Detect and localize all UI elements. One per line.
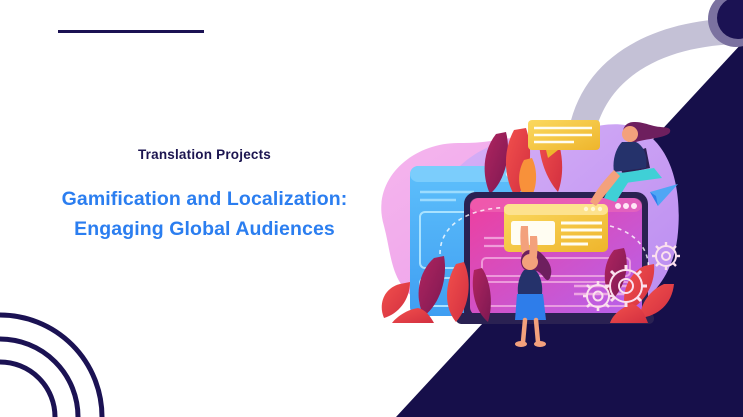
arc-outer	[0, 315, 102, 417]
main-window-dot-1	[615, 203, 621, 209]
arc-inner	[0, 362, 55, 417]
page-title: Gamification and Localization: Engaging …	[47, 184, 362, 244]
text-block: Translation Projects Gamification and Lo…	[47, 146, 362, 244]
ring-circle-inner	[717, 0, 743, 39]
person-head	[622, 126, 638, 142]
main-window-dot-3	[631, 203, 637, 209]
concentric-arcs-decoration	[0, 297, 120, 417]
reach-skirt	[515, 294, 546, 320]
horizontal-rule-decoration	[58, 30, 204, 33]
gamification-localization-illustration	[378, 108, 708, 323]
arc-middle	[0, 339, 78, 417]
card-yellow	[504, 204, 608, 252]
reach-shoes	[515, 341, 546, 347]
illustration-svg	[378, 108, 708, 323]
slide-canvas: Translation Projects Gamification and Lo…	[0, 0, 743, 417]
kicker-label: Translation Projects	[47, 146, 362, 164]
main-window-dot-2	[623, 203, 629, 209]
ring-circle-outer	[708, 0, 743, 47]
